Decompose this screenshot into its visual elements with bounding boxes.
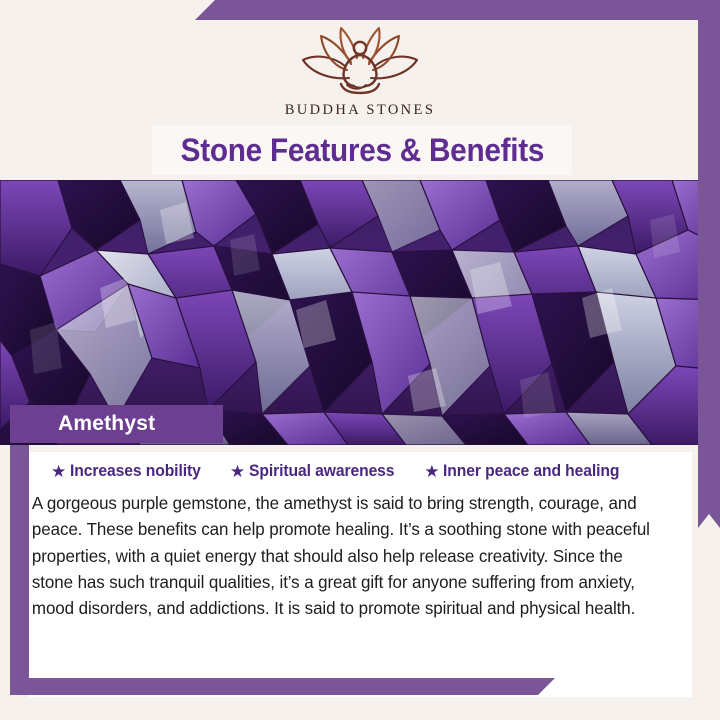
benefit-item: ★ Increases nobility [51, 462, 208, 481]
star-icon: ★ [51, 463, 66, 480]
page-title: Stone Features & Benefits [180, 132, 543, 169]
benefits-row: ★ Increases nobility ★ Spiritual awarene… [29, 452, 692, 481]
frame-left-band [10, 445, 29, 695]
frame-bottom-band [10, 678, 555, 695]
stone-description: A gorgeous purple gemstone, the amethyst… [29, 490, 672, 621]
benefit-label: Increases nobility [70, 462, 201, 481]
frame-right-band [698, 0, 720, 528]
benefit-label: Inner peace and healing [443, 462, 619, 481]
stone-name-banner: Amethyst [10, 405, 223, 443]
content-panel: ★ Increases nobility ★ Spiritual awarene… [29, 452, 692, 697]
benefit-item: ★ Inner peace and healing [424, 462, 629, 481]
brand-logo: BUDDHA STONES [0, 22, 720, 119]
benefit-item: ★ Spiritual awareness [230, 462, 402, 481]
benefit-label: Spiritual awareness [249, 462, 394, 481]
header: BUDDHA STONES Stone Features & Benefits [0, 0, 720, 180]
star-icon: ★ [230, 463, 245, 480]
stone-features-poster: BUDDHA STONES Stone Features & Benefits [0, 0, 720, 720]
stone-name-label: Amethyst [10, 412, 155, 436]
brand-name: BUDDHA STONES [0, 102, 720, 119]
lotus-meditation-icon [285, 22, 435, 100]
page-title-plate: Stone Features & Benefits [152, 125, 572, 175]
star-icon: ★ [424, 463, 439, 480]
